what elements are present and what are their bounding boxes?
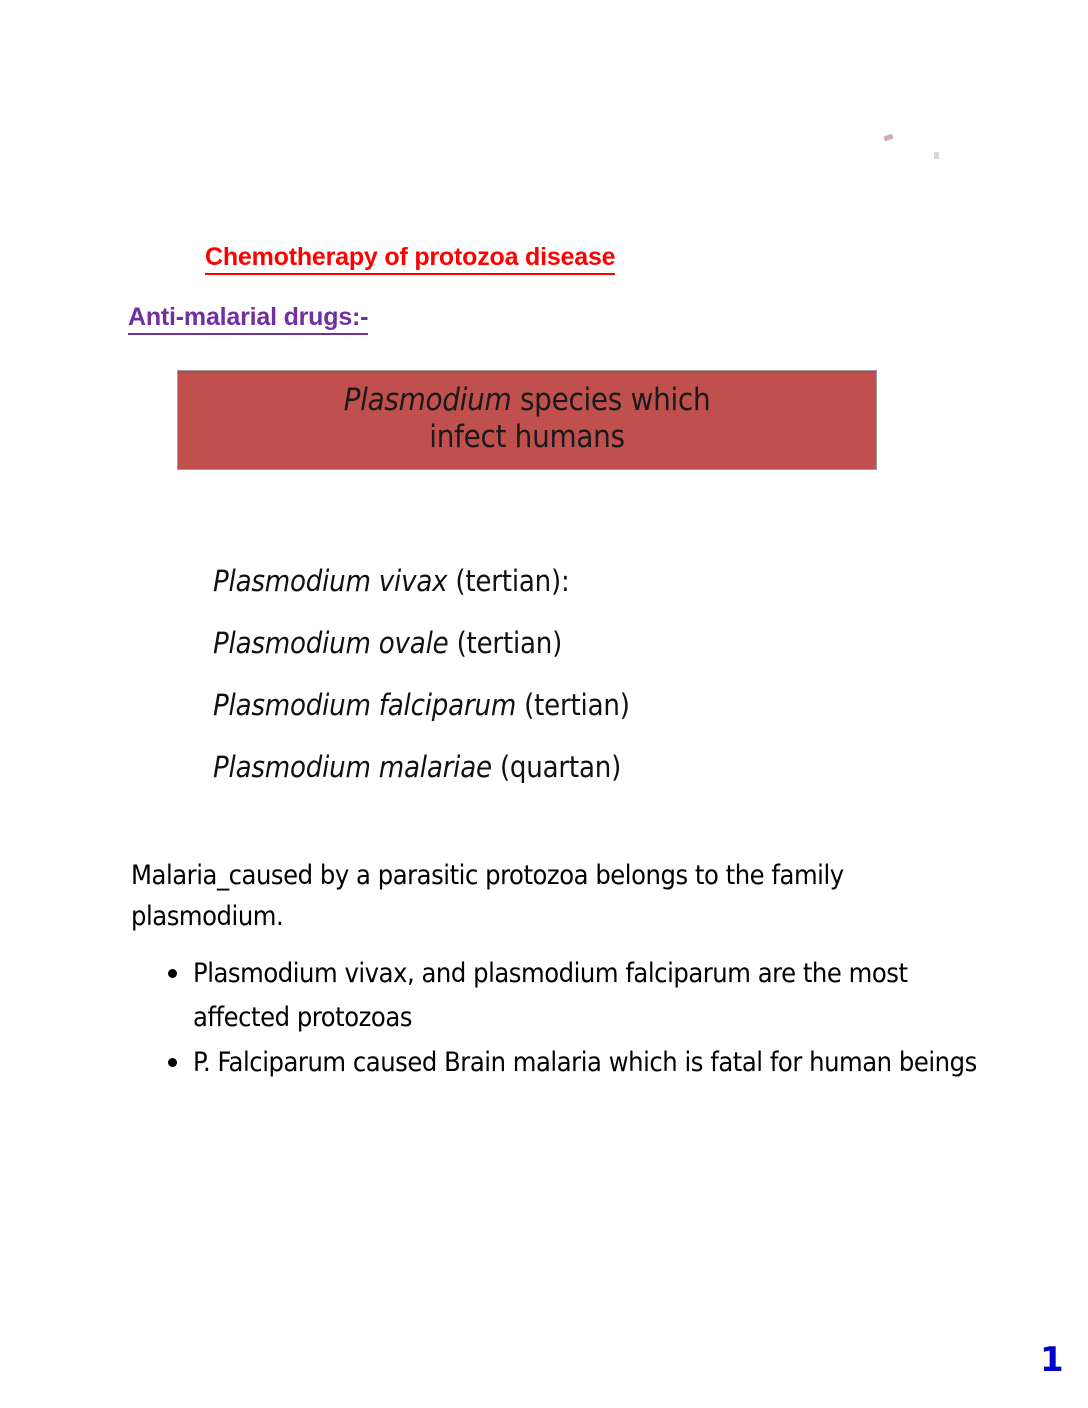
species-qualifier: (tertian) [516, 688, 630, 722]
body-paragraph: Malaria_caused by a parasitic protozoa b… [131, 855, 931, 937]
species-list-item: Plasmodium ovale (tertian) [213, 629, 853, 658]
bullet-dot-icon [168, 1058, 177, 1067]
species-scientific-name: Plasmodium falciparum [213, 688, 516, 722]
species-list-item: Plasmodium malariae (quartan) [213, 753, 853, 782]
plasmodium-banner-image: Plasmodium species which infect humans [177, 370, 877, 470]
banner-line2: infect humans [429, 419, 624, 455]
list-item-text: Plasmodium vivax, and plasmodium falcipa… [193, 958, 908, 1033]
scan-artifact-red-mark [883, 134, 893, 142]
banner-caption: Plasmodium species which infect humans [344, 382, 711, 458]
list-item: Plasmodium vivax, and plasmodium falcipa… [131, 952, 1011, 1039]
species-list-item: Plasmodium falciparum (tertian) [213, 691, 853, 720]
bulleted-list: Plasmodium vivax, and plasmodium falcipa… [131, 952, 1011, 1087]
page-title: Chemotherapy of protozoa disease [205, 243, 615, 275]
species-list: Plasmodium vivax (tertian): Plasmodium o… [213, 567, 853, 815]
species-scientific-name: Plasmodium ovale [213, 626, 448, 660]
species-qualifier: (tertian): [447, 564, 569, 598]
species-qualifier: (tertian) [448, 626, 562, 660]
document-page: Chemotherapy of protozoa disease Anti-ma… [0, 0, 1088, 1408]
species-scientific-name: Plasmodium malariae [213, 750, 492, 784]
bullet-dot-icon [168, 969, 177, 978]
species-list-item: Plasmodium vivax (tertian): [213, 567, 853, 596]
banner-line1-rest: species which [511, 382, 710, 418]
species-qualifier: (quartan) [492, 750, 621, 784]
scan-artifact-gray-mark [934, 152, 939, 159]
list-item: P. Falciparum caused Brain malaria which… [131, 1041, 1011, 1085]
list-item-text: P. Falciparum caused Brain malaria which… [193, 1047, 977, 1078]
banner-genus-name: Plasmodium [344, 382, 512, 418]
species-scientific-name: Plasmodium vivax [213, 564, 447, 598]
page-number: 1 [1040, 1343, 1064, 1377]
section-subheading: Anti-malarial drugs:- [128, 303, 368, 335]
